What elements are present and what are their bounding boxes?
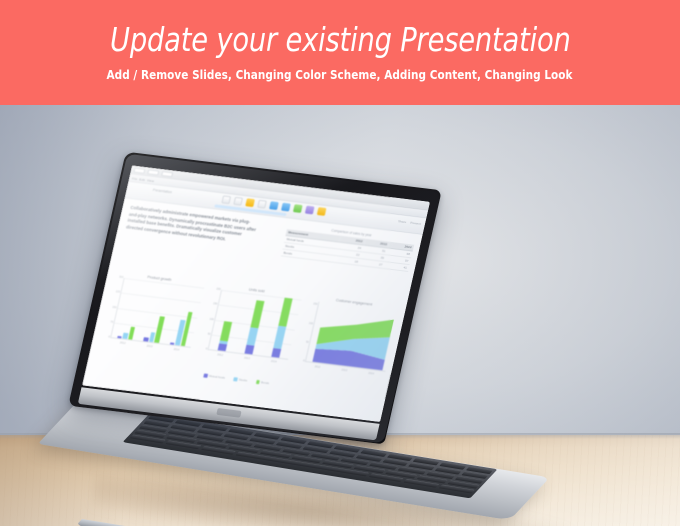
x-axis-tick: 2013 (146, 344, 152, 348)
laptop-lid: File Edit View Presentation (68, 152, 442, 445)
window-chip[interactable] (133, 167, 145, 173)
present-button[interactable]: Present (410, 220, 421, 225)
brand-logo (216, 408, 241, 418)
x-axis-tick: 2014 (368, 371, 374, 375)
chart-icon[interactable] (293, 204, 303, 213)
bar (128, 327, 135, 340)
legend-item: Bonds (256, 380, 270, 385)
legend-item: Mutual funds (204, 374, 226, 380)
legend-label: Mutual funds (209, 374, 226, 380)
bar-series-container (209, 290, 302, 359)
y-axis-tick: 75 (110, 320, 114, 323)
legend-swatch-mutual-funds (204, 374, 208, 378)
image-icon[interactable] (281, 203, 291, 212)
menu-item-view[interactable]: View (147, 178, 155, 183)
bar-group (170, 285, 199, 346)
legend-label: Bonds (261, 381, 270, 386)
window-chip[interactable] (147, 169, 159, 175)
x-axis-tick: 2014 (173, 347, 179, 351)
comparison-table: Measurement 2012 2013 2014 Mutua (281, 229, 415, 273)
bar-group (143, 282, 172, 343)
bar (170, 343, 175, 345)
link-icon[interactable] (269, 201, 279, 210)
screen-bezel: File Edit View Presentation (82, 165, 430, 422)
chart-plot-area: 150 100 50 0 (305, 302, 399, 372)
y-axis-tick: 300 (119, 276, 124, 279)
y-axis-tick: 225 (115, 291, 120, 294)
y-axis-tick: 150 (213, 303, 218, 306)
chart-product-growth[interactable]: Product growth 300 225 150 (95, 271, 206, 368)
y-axis-tick: 0 (303, 359, 305, 362)
chart-plot-area: 200 150 100 50 0 (207, 290, 301, 360)
bar (117, 335, 122, 338)
y-axis-tick: 0 (205, 347, 207, 350)
highlight-icon[interactable] (245, 198, 255, 207)
legend-swatch-bonds (256, 380, 260, 384)
comment-icon[interactable] (305, 206, 315, 215)
stacked-bar (244, 294, 265, 354)
y-axis-tick: 100 (308, 322, 313, 325)
shape-icon[interactable] (317, 207, 327, 216)
stacked-bar (218, 291, 239, 351)
toolbar-right-actions: Share Present (398, 219, 422, 226)
share-button[interactable]: Share (398, 219, 407, 224)
document-filename[interactable]: Presentation (152, 188, 172, 194)
x-axis-tick: 2012 (314, 365, 320, 369)
page-subtitle: Add / Remove Slides, Changing Color Sche… (107, 67, 573, 82)
x-axis-tick: 2012 (217, 353, 223, 357)
bar (143, 338, 148, 342)
chart-units-sold[interactable]: Units sold 200 150 100 (192, 283, 303, 380)
slide-canvas[interactable]: Collaboratively administrate empowered m… (82, 198, 423, 422)
laptop-display[interactable]: File Edit View Presentation (82, 165, 430, 422)
y-axis-tick: 0 (108, 335, 110, 338)
window-chip[interactable] (161, 171, 173, 177)
bar-series-container (111, 278, 204, 347)
x-axis-tick: 2012 (120, 341, 126, 345)
menu-item-edit[interactable]: Edit (139, 177, 146, 182)
chart-customer-engagement[interactable]: Customer engagement 150 100 50 0 (289, 295, 400, 392)
header-banner: Update your existing Presentation Add / … (0, 0, 680, 105)
bar-segment (250, 300, 264, 328)
chart-plot-area: 300 225 150 75 0 (110, 278, 204, 348)
area-chart-svg (306, 302, 399, 371)
legend-item: Stocks (233, 377, 247, 383)
text-color-icon[interactable] (257, 200, 267, 209)
x-axis-tick: 2013 (341, 368, 347, 372)
y-axis-tick: 100 (209, 317, 214, 320)
presentation-app: File Edit View Presentation (82, 165, 430, 422)
bar-segment (246, 327, 258, 346)
stacked-bar (271, 298, 292, 358)
bar-segment (278, 298, 292, 327)
charts-row: Product growth 300 225 150 (95, 271, 401, 391)
x-axis-tick: 2014 (271, 359, 277, 363)
slide-data-table: Comparison of sales by year Measurement … (281, 223, 416, 272)
page-title: Update your existing Presentation (110, 23, 571, 58)
bar-segment (218, 344, 227, 351)
bar-group (117, 279, 146, 340)
legend-label: Stocks (238, 378, 247, 383)
y-axis-tick: 200 (216, 288, 221, 291)
bar-segment (220, 321, 233, 342)
legend-swatch-stocks (234, 377, 238, 381)
y-axis-tick: 150 (112, 305, 117, 308)
bar-segment (244, 345, 254, 355)
y-axis-tick: 150 (313, 303, 318, 306)
y-axis-tick: 50 (306, 341, 310, 344)
y-axis-tick: 50 (207, 332, 211, 335)
bar-segment (273, 325, 286, 349)
undo-icon[interactable] (221, 195, 231, 204)
redo-icon[interactable] (233, 197, 243, 206)
x-axis-tick: 2013 (244, 356, 250, 360)
photo-scene: File Edit View Presentation (0, 105, 680, 526)
laptop: File Edit View Presentation (0, 105, 680, 526)
menu-item-file[interactable]: File (132, 176, 138, 181)
bar (154, 316, 164, 343)
bar-segment (271, 348, 281, 357)
